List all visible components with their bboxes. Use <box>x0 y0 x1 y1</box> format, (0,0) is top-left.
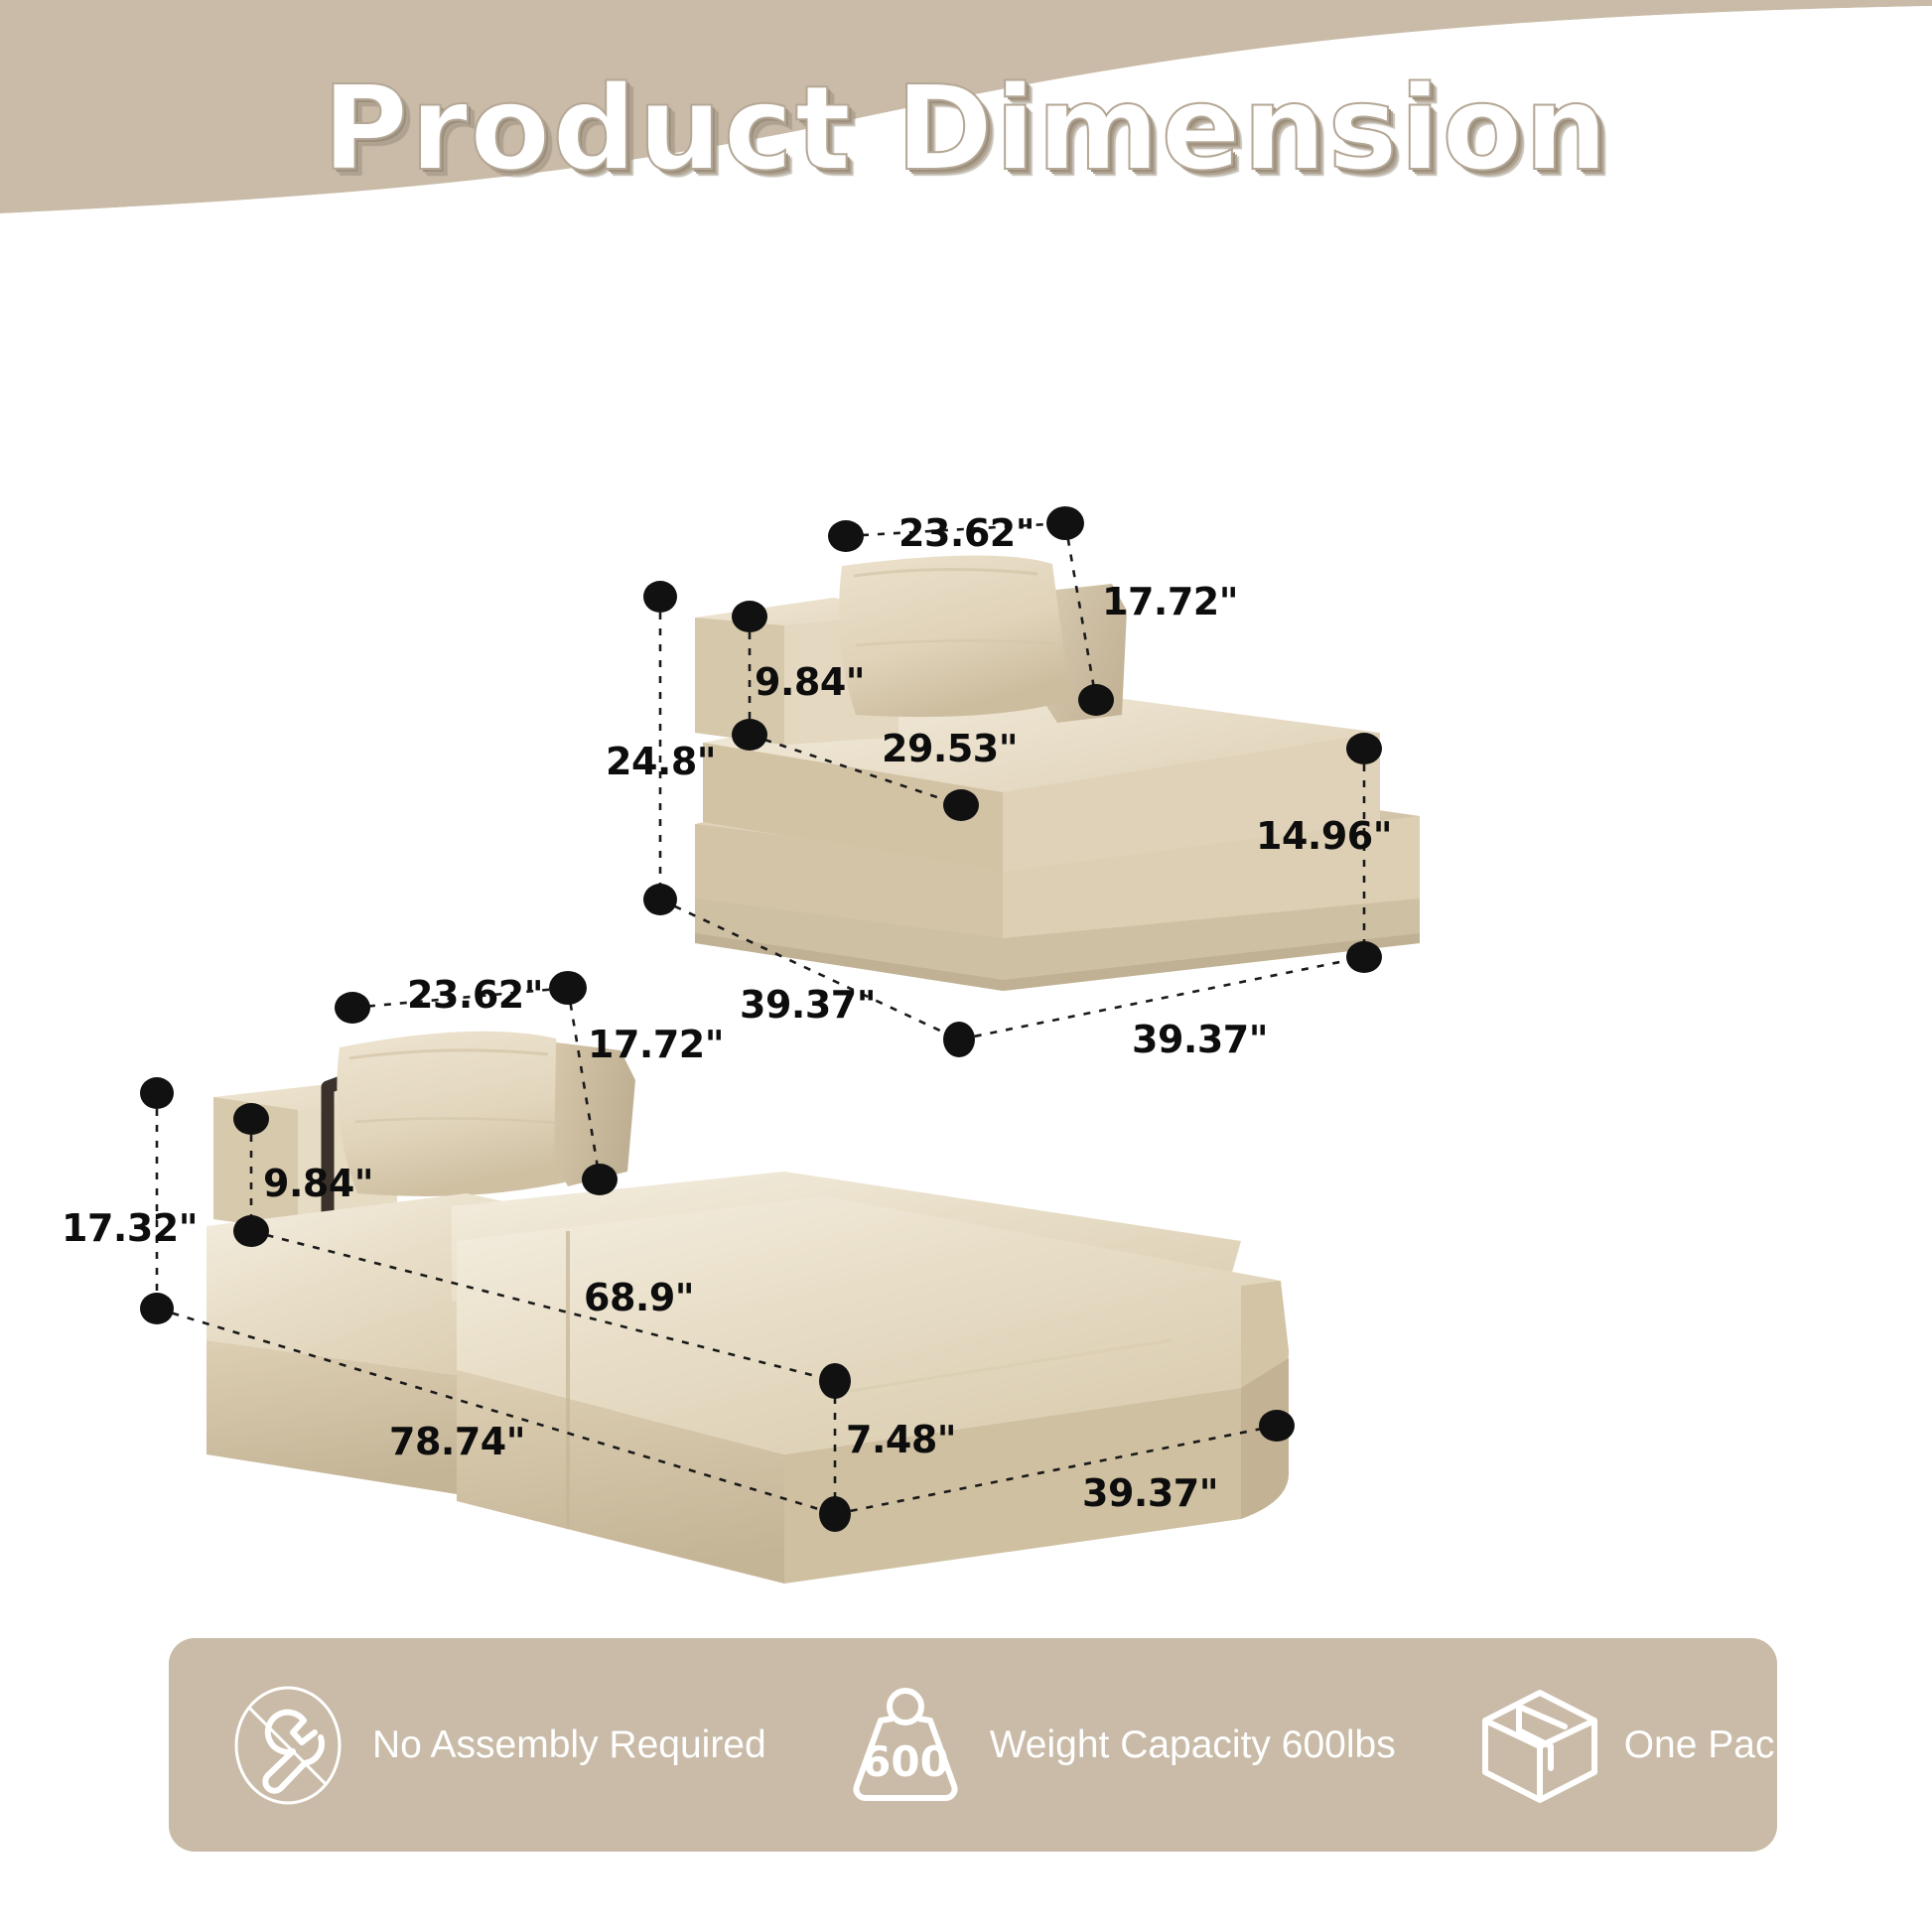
dim-bot-armrest-height: 9.84" <box>263 1162 373 1205</box>
feature-no-assembly: No Assembly Required <box>223 1638 766 1852</box>
feature-label-one-package: One Package <box>1624 1724 1859 1767</box>
dim-bot-overall-height: 17.32" <box>62 1206 198 1250</box>
folded-sofa-illustration <box>0 248 1932 1618</box>
dim-top-armrest-height: 9.84" <box>755 660 865 704</box>
dim-bot-total-length: 78.74" <box>389 1420 525 1463</box>
dim-top-base-depth-left: 39.37" <box>740 983 876 1027</box>
product-diagram-stage: 23.62" 9.84" 17.72" 29.53" 24.8" 14.96" … <box>0 248 1932 1618</box>
dim-top-overall-height: 24.8" <box>606 740 716 783</box>
dim-top-seat-height: 14.96" <box>1256 814 1392 858</box>
feature-label-weight-capacity: Weight Capacity 600lbs <box>990 1724 1396 1767</box>
feature-weight-capacity: 600 Weight Capacity 600lbs <box>841 1638 1396 1852</box>
package-box-icon <box>1475 1681 1604 1810</box>
dim-bot-backrest-depth: 17.72" <box>588 1023 724 1066</box>
feature-label-no-assembly: No Assembly Required <box>372 1724 766 1767</box>
unfolded-bed-illustration <box>0 248 1932 1618</box>
dim-top-seat-depth: 29.53" <box>882 727 1018 770</box>
dim-top-backrest-width: 23.62" <box>898 511 1035 555</box>
dim-bot-width: 39.37" <box>1082 1471 1218 1515</box>
dim-top-base-width-right: 39.37" <box>1132 1018 1268 1061</box>
dim-bot-mattress-thickness: 7.48" <box>846 1418 956 1461</box>
weight-icon: 600 <box>841 1681 970 1810</box>
weight-badge-value: 600 <box>862 1737 949 1786</box>
dim-top-backrest-depth: 17.72" <box>1102 580 1238 623</box>
feature-highlights-bar: No Assembly Required 600 Weight Capacity… <box>169 1638 1777 1852</box>
feature-one-package: One Package <box>1475 1638 1859 1852</box>
page-title: Product Dimension <box>0 60 1932 197</box>
dim-bot-backrest-width: 23.62" <box>407 973 543 1017</box>
no-wrench-icon <box>223 1681 352 1810</box>
header-banner: Product Dimension <box>0 0 1932 248</box>
dim-bot-mattress-length: 68.9" <box>584 1276 694 1319</box>
